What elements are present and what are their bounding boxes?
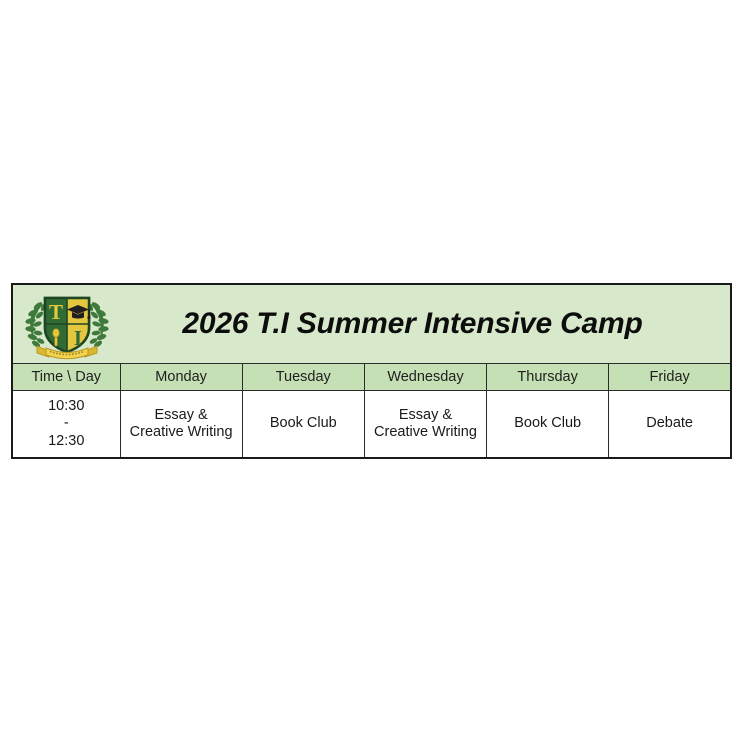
session-cell-monday: Essay & Creative Writing (120, 391, 242, 459)
page-title: 2026 T.I Summer Intensive Camp (182, 307, 642, 341)
session-cell-tuesday: Book Club (242, 391, 364, 459)
session-cell-thursday: Book Club (487, 391, 609, 459)
ti-school-crest-icon: T I (19, 288, 115, 360)
schedule-title-row: T I (12, 284, 731, 364)
column-header-time-day: Time \ Day (12, 364, 120, 391)
column-header-monday: Monday (120, 364, 242, 391)
crest-letter-t: T (49, 300, 63, 324)
column-header-tuesday: Tuesday (242, 364, 364, 391)
school-crest-logo: T I (13, 285, 121, 363)
column-header-friday: Friday (609, 364, 731, 391)
session-cell-wednesday: Essay & Creative Writing (364, 391, 486, 459)
schedule-title-cell: T I (12, 284, 731, 364)
table-row: 10:30 - 12:30 Essay & Creative Writing B… (12, 391, 731, 459)
shield-icon: T I (43, 296, 91, 356)
column-header-thursday: Thursday (487, 364, 609, 391)
crest-letter-i: I (74, 326, 82, 350)
time-slot-cell: 10:30 - 12:30 (12, 391, 120, 459)
schedule-table: T I (11, 283, 732, 459)
column-header-wednesday: Wednesday (364, 364, 486, 391)
camp-schedule: T I (11, 283, 730, 459)
table-header-row: Time \ Day Monday Tuesday Wednesday Thur… (12, 364, 731, 391)
session-cell-friday: Debate (609, 391, 731, 459)
